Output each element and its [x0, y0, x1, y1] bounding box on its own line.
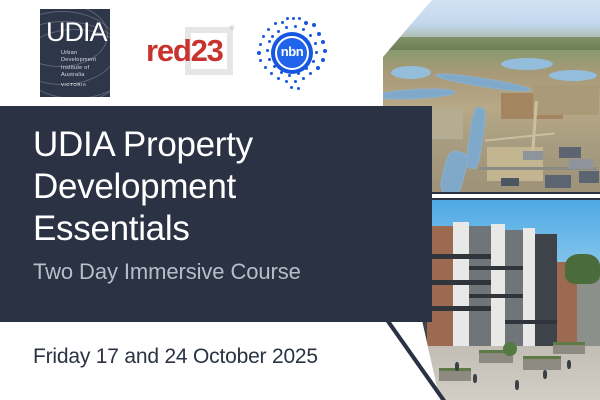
photo-road: [485, 132, 555, 141]
logo-bar: UDIA Urban Development Institute of Aust…: [0, 0, 383, 106]
photo-building-roof: [545, 175, 571, 188]
udia-region-label: VICTORIA: [61, 82, 86, 87]
headline-panel: UDIA Property Development Essentials Two…: [0, 106, 432, 322]
photo-planter: [523, 356, 561, 370]
photo-lake: [501, 58, 553, 70]
photo-building-block: [469, 226, 491, 354]
udia-subtext-line: Institute of: [61, 65, 109, 72]
title-line-1: UDIA Property: [33, 124, 413, 166]
photo-river: [438, 149, 470, 194]
photo-building-roof: [559, 147, 581, 158]
photo-building-block: [505, 230, 523, 354]
udia-subtext-line: Urban: [61, 50, 109, 57]
registered-trademark-icon: ®: [230, 26, 234, 32]
photo-glazing: [389, 320, 423, 354]
photo-sky: [383, 0, 600, 41]
photo-building-block: [535, 234, 557, 352]
udia-subtext: Urban Development Institute of Australia: [61, 50, 109, 80]
udia-subtext-line: Australia: [61, 72, 109, 79]
nbn-logo: nbn: [254, 16, 330, 92]
photo-treeline: [383, 37, 600, 51]
photo-balcony: [427, 306, 491, 311]
photo-person: [515, 380, 519, 390]
photo-building-roof: [569, 159, 593, 169]
photo-building-block: [523, 228, 535, 354]
nbn-wordmark: nbn: [275, 44, 309, 59]
photo-lake: [391, 66, 431, 79]
course-subtitle: Two Day Immersive Course: [33, 259, 301, 285]
photo-balcony: [427, 254, 491, 259]
photo-person: [455, 362, 459, 371]
title-line-3: Essentials: [33, 208, 413, 250]
red23-logo: red23 ®: [146, 25, 242, 77]
red23-wordmark: red23: [146, 35, 242, 66]
photo-balcony: [427, 280, 491, 285]
photo-building-roof: [579, 171, 599, 183]
photo-building-roof: [501, 178, 519, 186]
photo-field: [533, 85, 599, 115]
photo-building-block: [491, 224, 505, 354]
event-date: Friday 17 and 24 October 2025: [33, 345, 318, 369]
page-title: UDIA Property Development Essentials: [33, 124, 413, 250]
date-strip: Friday 17 and 24 October 2025: [0, 322, 383, 400]
photo-person: [567, 360, 571, 369]
photo-river: [465, 106, 487, 169]
photo-tree: [565, 254, 600, 284]
photo-balcony: [469, 294, 523, 298]
photo-person: [473, 374, 477, 383]
event-banner: UDIA Urban Development Institute of Aust…: [0, 0, 600, 400]
photo-building-roof: [523, 151, 543, 160]
udia-subtext-line: Development: [61, 57, 109, 64]
photo-lake: [549, 70, 597, 81]
udia-logo: UDIA Urban Development Institute of Aust…: [40, 9, 110, 97]
photo-tree: [503, 342, 517, 356]
photo-planter: [553, 342, 585, 354]
photo-balcony: [469, 266, 523, 270]
photo-river: [383, 87, 455, 101]
udia-wordmark: UDIA: [46, 17, 104, 47]
photo-building-block: [453, 222, 469, 354]
photo-balcony: [505, 320, 557, 324]
photo-person: [543, 370, 547, 379]
title-line-2: Development: [33, 166, 413, 208]
